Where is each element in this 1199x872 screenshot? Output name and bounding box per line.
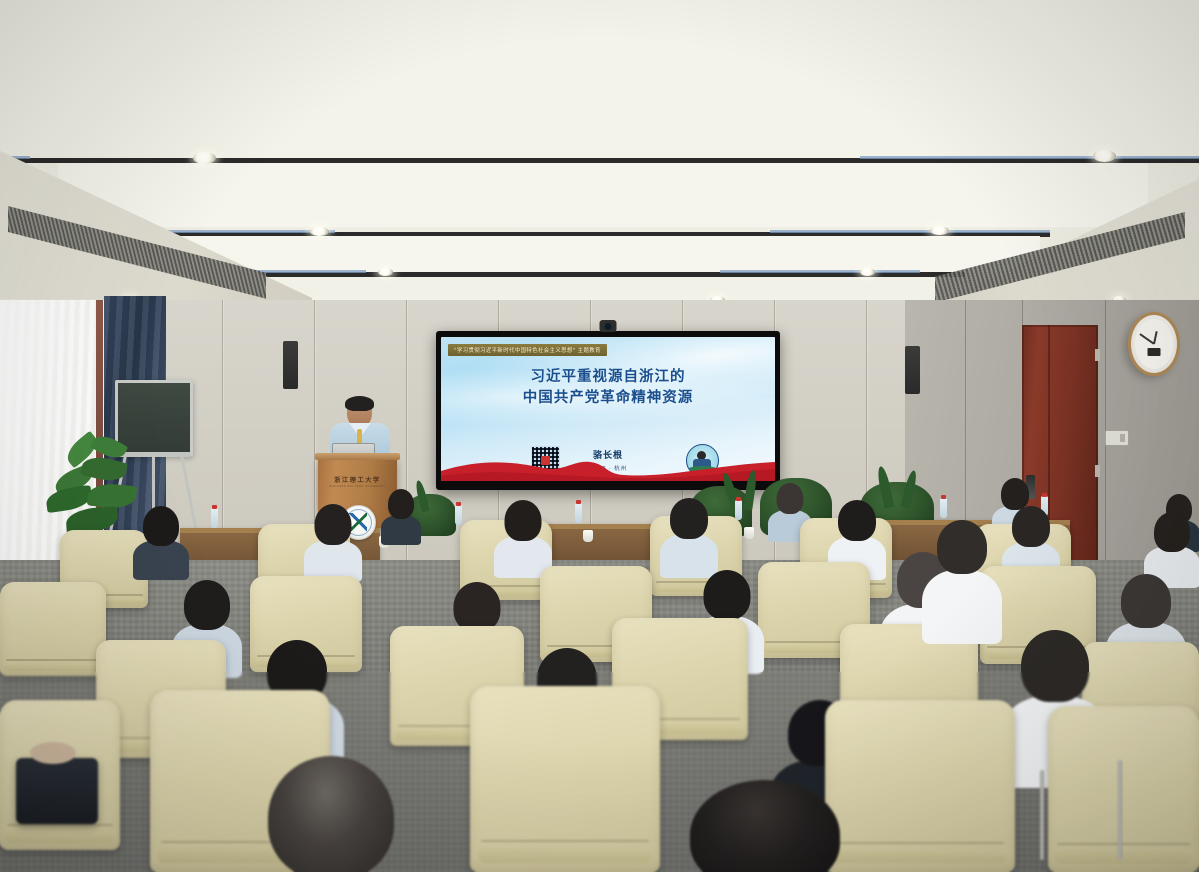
ceiling-panel-2	[58, 163, 1148, 227]
attendee-head	[388, 489, 414, 519]
downlight-2	[1093, 150, 1116, 162]
ceiling-accent-strip-2	[150, 230, 335, 233]
chair-rB-1[interactable]	[0, 582, 106, 676]
attendee-head	[505, 500, 542, 541]
attendee-body	[922, 570, 1002, 644]
attendee-head	[143, 506, 179, 546]
wall-clock	[1128, 312, 1180, 376]
ceiling-panel-3	[160, 236, 1040, 272]
attendee-standing-right	[922, 520, 1002, 640]
chair-rD-5[interactable]	[1048, 706, 1199, 872]
bottle-cap-6	[1042, 493, 1047, 497]
attendee-head	[1012, 506, 1050, 547]
ceiling-accent-strip-1	[860, 156, 1199, 159]
downlight-6	[860, 268, 875, 276]
attendee-rA-4	[660, 498, 718, 572]
chair-seat	[833, 850, 1008, 864]
podium-university-name-en: ZHEJIANG SCI-TECH UNIVERSITY	[318, 485, 397, 488]
attendee-head	[268, 756, 394, 872]
conference-room-photo: "学习贯彻习近平新时代中国特色社会主义思想" 主题教育 习近平重视源自浙江的 中…	[0, 0, 1199, 872]
door-hinge-bottom	[1095, 465, 1100, 477]
downlight-3	[310, 227, 329, 236]
attendee-body	[133, 540, 189, 580]
chair-seat	[4, 664, 102, 672]
ceiling-accent-strip-2b	[770, 230, 1050, 233]
presenter-hair	[345, 396, 374, 411]
attendee-head	[454, 582, 501, 632]
door-hinge-top	[1095, 349, 1100, 361]
bottle-cap-2	[456, 502, 461, 506]
downlight-1	[193, 152, 216, 164]
screen-camera-icon	[600, 320, 617, 332]
chair-seat	[1054, 850, 1193, 863]
wall-speaker-left	[283, 341, 298, 389]
right-wall-seam-3	[1105, 300, 1106, 600]
slide-banner-text: "学习贯彻习近平新时代中国特色社会主义思想" 主题教育	[448, 344, 607, 356]
cup-2	[583, 530, 593, 542]
slide-content: "学习贯彻习近平新时代中国特色社会主义思想" 主题教育 习近平重视源自浙江的 中…	[441, 337, 775, 481]
attendee-rA-3	[494, 500, 552, 572]
attendee-head	[1121, 574, 1171, 628]
jacket-on-chair	[30, 742, 76, 764]
attendee-head	[315, 504, 352, 545]
bottle-cap-4	[736, 497, 741, 501]
slide-title-line-1: 习近平重视源自浙江的	[441, 367, 775, 388]
slide-title: 习近平重视源自浙江的 中国共产党革命精神资源	[441, 367, 775, 409]
attendee-rD-2	[690, 780, 840, 872]
attendee-head	[1021, 630, 1089, 702]
ceiling	[0, 0, 1199, 330]
chair-rD-4[interactable]	[825, 700, 1015, 872]
chair-leg-2	[1040, 770, 1044, 860]
water-bottle-1	[211, 508, 218, 528]
clock-date-window	[1148, 348, 1161, 356]
cup-3	[744, 527, 754, 539]
downlight-5	[378, 268, 393, 276]
wall-speaker-right	[905, 346, 920, 394]
podium-university-name: 浙江理工大学	[318, 475, 397, 484]
attendee-head	[704, 570, 751, 620]
attendee-head	[670, 498, 708, 539]
attendee-rA-1	[133, 506, 189, 574]
clock-minute-hand	[1140, 334, 1155, 345]
water-bottle-4	[735, 500, 742, 520]
clock-face	[1135, 319, 1173, 369]
bottle-cap-5	[941, 495, 946, 499]
attendee-rD-1	[268, 756, 394, 872]
attendee-head	[690, 780, 840, 872]
attendee-rA-2	[304, 504, 362, 576]
attendee-r1-1	[381, 489, 421, 541]
chair-leg-1	[1118, 760, 1122, 860]
water-bottle-2	[455, 505, 462, 525]
ceiling-accent-strip-3b	[720, 270, 920, 273]
bottle-cap-3	[576, 500, 581, 504]
attendee-head	[1154, 512, 1190, 552]
ceiling-panel-1	[0, 0, 1199, 158]
presentation-screen[interactable]: "学习贯彻习近平新时代中国特色社会主义思想" 主题教育 习近平重视源自浙江的 中…	[436, 331, 780, 490]
attendee-head	[777, 483, 804, 514]
water-bottle-5	[940, 498, 947, 518]
attendee-head	[838, 500, 876, 541]
bag-on-floor	[16, 758, 98, 824]
podium-top-edge	[315, 453, 400, 460]
attendee-head	[937, 520, 987, 574]
bottle-cap-1	[212, 505, 217, 509]
chair-rD-3[interactable]	[470, 686, 660, 872]
attendee-body	[381, 515, 421, 545]
slide-title-line-2: 中国共产党革命精神资源	[441, 388, 775, 409]
attendee-head	[184, 580, 230, 630]
chair-seat	[478, 848, 653, 863]
chair-seat	[5, 831, 115, 843]
water-bottle-3	[575, 503, 582, 523]
downlight-4	[930, 226, 949, 235]
light-switch-plate[interactable]	[1105, 430, 1129, 446]
